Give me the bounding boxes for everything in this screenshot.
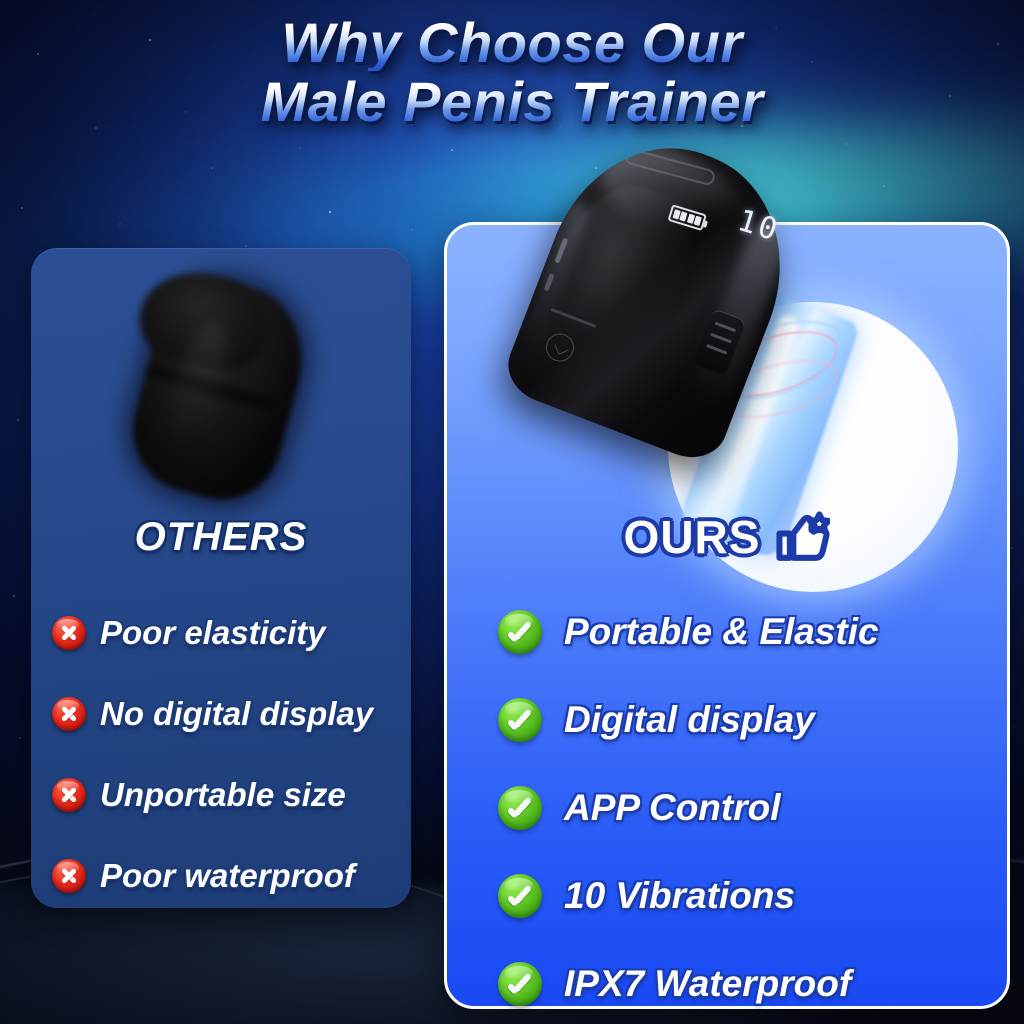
others-feature-list: Poor elasticity No digital display Unpor…: [52, 592, 402, 916]
list-item: Digital display: [498, 676, 1008, 764]
check-icon: [498, 610, 542, 654]
display-mode-number: 10: [734, 203, 785, 249]
others-item-label: No digital display: [100, 695, 373, 733]
ours-feature-list: Portable & Elastic Digital display APP C…: [498, 588, 1008, 1024]
list-item: APP Control: [498, 764, 1008, 852]
battery-bar: [694, 216, 702, 226]
list-item: Poor elasticity: [52, 592, 402, 673]
cross-icon: [52, 697, 86, 731]
headline-line-2: Male Penis Trainer: [0, 73, 1024, 130]
ours-item-label: Digital display: [564, 699, 815, 741]
ours-heading-row: OURS: [444, 510, 1010, 564]
ours-heading: OURS: [624, 510, 761, 564]
headline: Why Choose Our Male Penis Trainer: [0, 14, 1024, 130]
check-icon: [498, 698, 542, 742]
others-item-label: Poor waterproof: [100, 857, 355, 895]
battery-full-icon: [667, 204, 706, 231]
check-icon: [498, 786, 542, 830]
headline-line-1: Why Choose Our: [0, 14, 1024, 71]
ours-item-label: 10 Vibrations: [564, 875, 795, 917]
button-ridge: [706, 344, 728, 355]
button-ridge: [715, 322, 737, 333]
ours-item-label: IPX7 Waterproof: [564, 963, 851, 1005]
check-icon: [498, 874, 542, 918]
product-comparison-infographic: Why Choose Our Male Penis Trainer: [0, 0, 1024, 1024]
ours-product-image: 10: [500, 150, 970, 550]
list-item: IPX7 Waterproof: [498, 940, 1008, 1024]
others-product-image: [118, 272, 333, 512]
ours-item-label: APP Control: [564, 787, 781, 829]
cross-icon: [52, 859, 86, 893]
check-icon: [498, 962, 542, 1006]
others-item-label: Poor elasticity: [100, 614, 326, 652]
list-item: No digital display: [52, 673, 402, 754]
cross-icon: [52, 778, 86, 812]
ours-item-label: Portable & Elastic: [564, 611, 879, 653]
list-item: Unportable size: [52, 754, 402, 835]
others-heading: OTHERS: [31, 515, 411, 560]
list-item: 10 Vibrations: [498, 852, 1008, 940]
list-item: Poor waterproof: [52, 835, 402, 916]
thumbs-up-star-icon: [774, 511, 830, 563]
cross-icon: [52, 616, 86, 650]
others-item-label: Unportable size: [100, 776, 346, 814]
button-ridge: [710, 333, 732, 344]
list-item: Portable & Elastic: [498, 588, 1008, 676]
